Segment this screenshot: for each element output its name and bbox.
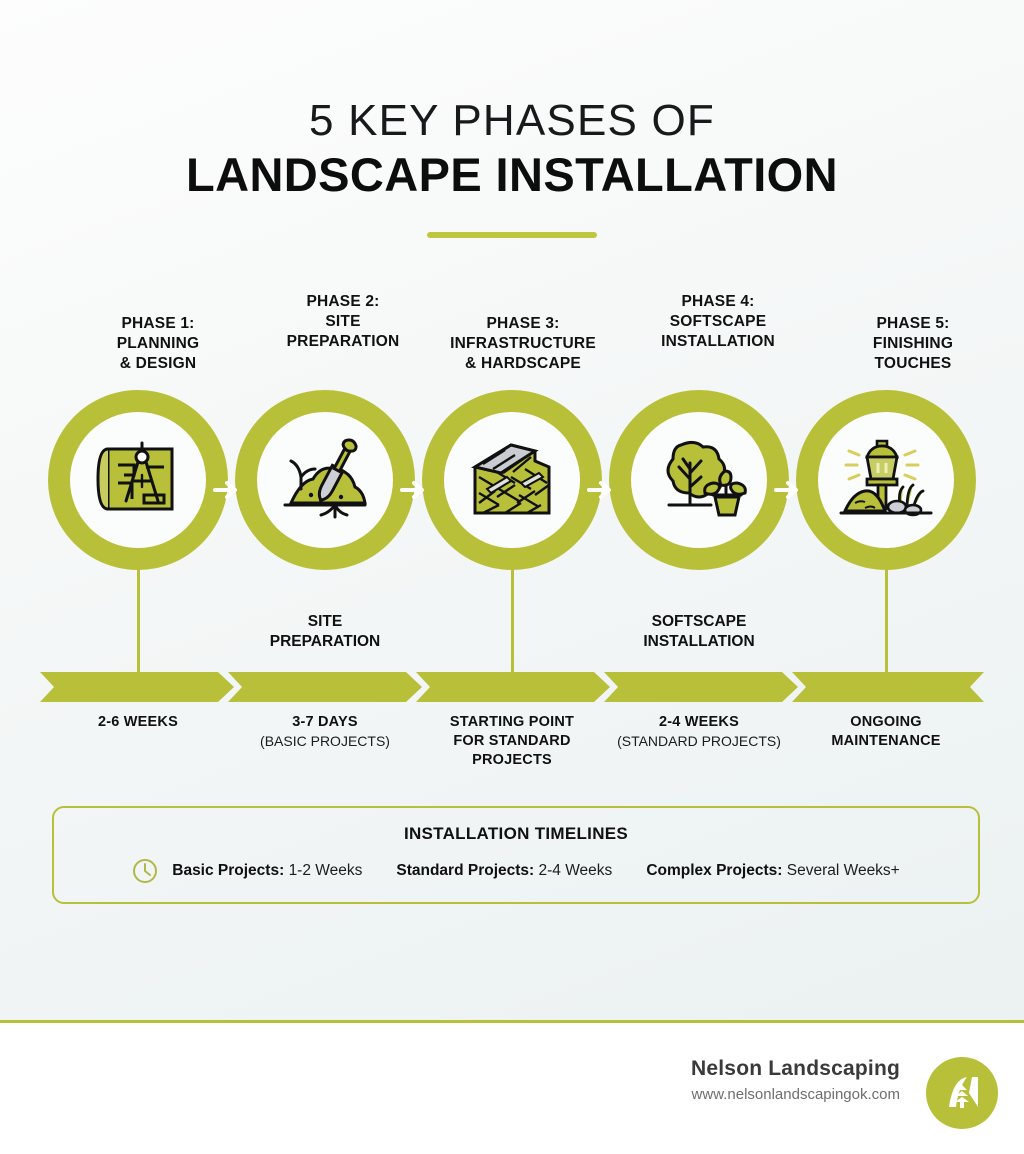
timelines-row: Basic Projects: 1-2 Weeks Standard Proje… [54, 858, 978, 884]
timeline-label-basic: Basic Projects: [172, 862, 284, 879]
timelines-title: INSTALLATION TIMELINES [54, 824, 978, 844]
installation-timelines-box: INSTALLATION TIMELINES Basic Projects: 1… [52, 806, 980, 904]
duration-sub-4: (STANDARD PROJECTS) [608, 732, 790, 750]
clock-icon [132, 858, 158, 884]
duration-main-3: STARTING POINTFOR STANDARDPROJECTS [421, 713, 603, 770]
duration-sub-2: (BASIC PROJECTS) [234, 732, 416, 750]
mid-label-phase-4: SOFTSCAPEINSTALLATION [604, 612, 794, 652]
arrow-right-icon-2 [400, 478, 430, 502]
nelson-n-tree-logo [926, 1057, 998, 1129]
infographic-canvas: 5 KEY PHASES OF LANDSCAPE INSTALLATION P… [0, 0, 1024, 1154]
phase-ring-4[interactable] [609, 390, 789, 570]
arrow-right-icon-4 [774, 478, 804, 502]
phase-ring-3[interactable] [422, 390, 602, 570]
timeline-item-standard: Standard Projects: 2-4 Weeks [396, 862, 612, 880]
timeline-label-standard: Standard Projects: [396, 862, 534, 879]
brand-name: Nelson Landscaping [691, 1057, 900, 1081]
phase-ring-1[interactable] [48, 390, 228, 570]
duration-main-1: 2-6 WEEKS [47, 713, 229, 732]
timeline-item-basic: Basic Projects: 1-2 Weeks [172, 862, 362, 880]
duration-phase-3: STARTING POINTFOR STANDARDPROJECTS [421, 713, 603, 770]
footer-branding: Nelson Landscaping www.nelsonlandscaping… [691, 1057, 900, 1103]
duration-main-2: 3-7 DAYS [234, 713, 416, 732]
phase-header-5: PHASE 5:FINISHINGTOUCHES [818, 314, 1008, 373]
phase-ring-5[interactable] [796, 390, 976, 570]
shovel-soil-icon [277, 437, 373, 523]
title-divider-rule [427, 232, 597, 238]
tree-potted-plant-icon [651, 437, 747, 523]
phase-headers-row: PHASE 1:PLANNING& DESIGN PHASE 2:SITEPRE… [40, 292, 984, 384]
connector-stem-5 [885, 560, 888, 676]
timeline-chevron-bar [40, 672, 984, 702]
duration-phase-4: 2-4 WEEKS (STANDARD PROJECTS) [608, 713, 790, 750]
phase-header-2: PHASE 2:SITEPREPARATION [248, 292, 438, 351]
timeline-value-complex: Several Weeks+ [787, 862, 900, 879]
arrow-right-icon-3 [587, 478, 617, 502]
connector-stem-1 [137, 560, 140, 676]
title-line-2: LANDSCAPE INSTALLATION [0, 149, 1024, 202]
duration-main-5: ONGOINGMAINTENANCE [795, 713, 977, 751]
lamp-post-mulch-icon [837, 437, 935, 523]
brand-url[interactable]: www.nelsonlandscapingok.com [691, 1086, 900, 1103]
timeline-value-standard: 2-4 Weeks [539, 862, 613, 879]
arrow-right-icon-1 [213, 478, 243, 502]
duration-phase-1: 2-6 WEEKS [47, 713, 229, 732]
timeline-label-complex: Complex Projects: [646, 862, 782, 879]
phase-ring-2[interactable] [235, 390, 415, 570]
title-line-1: 5 KEY PHASES OF [0, 96, 1024, 145]
duration-phase-5: ONGOINGMAINTENANCE [795, 713, 977, 751]
paver-bricks-icon [465, 437, 559, 523]
title-block: 5 KEY PHASES OF LANDSCAPE INSTALLATION [0, 96, 1024, 238]
timeline-item-complex: Complex Projects: Several Weeks+ [646, 862, 899, 880]
duration-phase-2: 3-7 DAYS (BASIC PROJECTS) [234, 713, 416, 750]
phase-header-1: PHASE 1:PLANNING& DESIGN [68, 314, 248, 373]
connector-stem-3 [511, 560, 514, 676]
phase-header-4: PHASE 4:SOFTSCAPEINSTALLATION [618, 292, 818, 351]
blueprint-compass-icon [92, 437, 184, 523]
phase-header-3: PHASE 3:INFRASTRUCTURE& HARDSCAPE [418, 314, 628, 373]
timeline-value-basic: 1-2 Weeks [289, 862, 363, 879]
duration-main-4: 2-4 WEEKS [608, 713, 790, 732]
mid-label-phase-2: SITEPREPARATION [230, 612, 420, 652]
